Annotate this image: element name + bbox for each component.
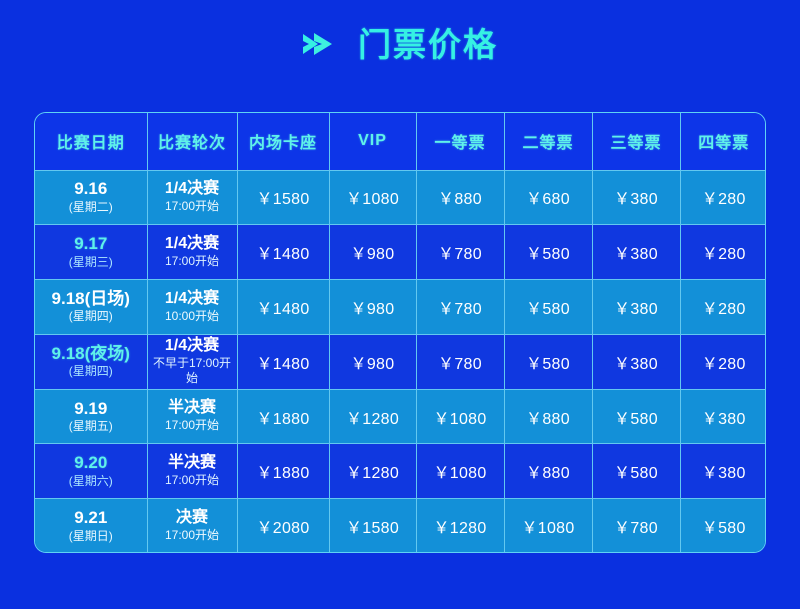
cell-price-tier2: ￥880 — [504, 389, 592, 444]
date-value: 9.18(夜场) — [35, 344, 147, 364]
cell-date: 9.18(日场) (星期四) — [35, 280, 147, 335]
round-value: 半决赛 — [148, 454, 237, 472]
cell-price-tier4: ￥280 — [680, 280, 766, 335]
cell-price-vip: ￥980 — [329, 225, 416, 280]
price-value: ￥1280 — [346, 465, 399, 482]
price-value: ￥780 — [438, 301, 482, 318]
cell-round: 1/4决赛 10:00开始 — [147, 280, 237, 335]
cell-price-vip: ￥1280 — [329, 444, 416, 499]
start-time-value: 17:00开始 — [148, 418, 237, 434]
cell-date: 9.18(夜场) (星期四) — [35, 334, 147, 389]
table-row: 9.16 (星期二) 1/4决赛 17:00开始 ￥1580 ￥1080 ￥88… — [35, 170, 766, 225]
date-value: 9.16 — [35, 179, 147, 199]
price-value: ￥380 — [614, 246, 658, 263]
weekday-value: (星期四) — [35, 309, 147, 325]
cell-price-tier1: ￥780 — [416, 225, 504, 280]
weekday-value: (星期二) — [35, 200, 147, 216]
price-value: ￥380 — [702, 465, 746, 482]
start-time-value: 17:00开始 — [148, 528, 237, 544]
page-title: 门票价格 — [358, 28, 498, 61]
weekday-value: (星期五) — [35, 419, 147, 435]
table-row: 9.19 (星期五) 半决赛 17:00开始 ￥1880 ￥1280 ￥1080… — [35, 389, 766, 444]
column-header-date: 比赛日期 — [35, 113, 147, 170]
cell-date: 9.17 (星期三) — [35, 225, 147, 280]
date-value: 9.17 — [35, 234, 147, 254]
ticket-price-table-container: 比赛日期 比赛轮次 内场卡座 VIP 一等票 二等票 三等票 四等票 9.16 … — [34, 112, 766, 553]
cell-price-vip: ￥980 — [329, 280, 416, 335]
round-value: 半决赛 — [148, 399, 237, 417]
date-value: 9.20 — [35, 453, 147, 473]
cell-price-tier4: ￥280 — [680, 170, 766, 225]
cell-round: 半决赛 17:00开始 — [147, 444, 237, 499]
cell-price-infield-seat: ￥2080 — [237, 499, 329, 553]
table-row: 9.18(日场) (星期四) 1/4决赛 10:00开始 ￥1480 ￥980 … — [35, 280, 766, 335]
cell-round: 半决赛 17:00开始 — [147, 389, 237, 444]
price-value: ￥1080 — [433, 411, 486, 428]
price-value: ￥880 — [526, 411, 570, 428]
price-value: ￥1080 — [521, 520, 574, 537]
cell-date: 9.19 (星期五) — [35, 389, 147, 444]
table-row: 9.21 (星期日) 决赛 17:00开始 ￥2080 ￥1580 ￥1280 … — [35, 499, 766, 553]
price-value: ￥1480 — [256, 246, 309, 263]
cell-price-tier2: ￥1080 — [504, 499, 592, 553]
price-value: ￥1480 — [256, 301, 309, 318]
column-header-tier2: 二等票 — [504, 113, 592, 170]
price-value: ￥680 — [526, 191, 570, 208]
column-header-tier4: 四等票 — [680, 113, 766, 170]
cell-date: 9.21 (星期日) — [35, 499, 147, 553]
price-value: ￥280 — [702, 246, 746, 263]
price-value: ￥580 — [614, 411, 658, 428]
cell-date: 9.20 (星期六) — [35, 444, 147, 499]
date-value: 9.21 — [35, 508, 147, 528]
cell-round: 决赛 17:00开始 — [147, 499, 237, 553]
table-row: 9.17 (星期三) 1/4决赛 17:00开始 ￥1480 ￥980 ￥780… — [35, 225, 766, 280]
cell-price-tier1: ￥1080 — [416, 444, 504, 499]
price-value: ￥1580 — [346, 520, 399, 537]
column-header-tier3: 三等票 — [592, 113, 680, 170]
table-header-row: 比赛日期 比赛轮次 内场卡座 VIP 一等票 二等票 三等票 四等票 — [35, 113, 766, 170]
start-time-value: 17:00开始 — [148, 473, 237, 489]
table-row: 9.20 (星期六) 半决赛 17:00开始 ￥1880 ￥1280 ￥1080… — [35, 444, 766, 499]
cell-price-tier3: ￥380 — [592, 280, 680, 335]
cell-price-tier2: ￥880 — [504, 444, 592, 499]
date-value: 9.18(日场) — [35, 289, 147, 309]
price-value: ￥780 — [438, 356, 482, 373]
price-value: ￥1880 — [256, 411, 309, 428]
cell-price-infield-seat: ￥1580 — [237, 170, 329, 225]
price-value: ￥580 — [526, 356, 570, 373]
cell-price-tier4: ￥380 — [680, 389, 766, 444]
cell-price-tier2: ￥580 — [504, 280, 592, 335]
weekday-value: (星期日) — [35, 529, 147, 545]
start-time-value: 不早于17:00开始 — [148, 356, 237, 387]
price-value: ￥380 — [614, 301, 658, 318]
price-value: ￥280 — [702, 301, 746, 318]
price-value: ￥880 — [526, 465, 570, 482]
price-value: ￥280 — [702, 356, 746, 373]
price-value: ￥1580 — [256, 191, 309, 208]
cell-price-tier2: ￥580 — [504, 334, 592, 389]
cell-price-infield-seat: ￥1480 — [237, 280, 329, 335]
cell-price-tier3: ￥580 — [592, 444, 680, 499]
price-value: ￥580 — [614, 465, 658, 482]
cell-price-tier1: ￥880 — [416, 170, 504, 225]
cell-price-tier4: ￥280 — [680, 334, 766, 389]
cell-price-vip: ￥1580 — [329, 499, 416, 553]
price-value: ￥1480 — [256, 356, 309, 373]
weekday-value: (星期三) — [35, 255, 147, 271]
table-row: 9.18(夜场) (星期四) 1/4决赛 不早于17:00开始 ￥1480 ￥9… — [35, 334, 766, 389]
price-value: ￥1280 — [433, 520, 486, 537]
cell-price-tier1: ￥1280 — [416, 499, 504, 553]
price-value: ￥980 — [351, 301, 395, 318]
date-value: 9.19 — [35, 399, 147, 419]
cell-price-tier3: ￥380 — [592, 334, 680, 389]
cell-price-vip: ￥980 — [329, 334, 416, 389]
start-time-value: 10:00开始 — [148, 309, 237, 325]
price-value: ￥1080 — [346, 191, 399, 208]
price-value: ￥780 — [614, 520, 658, 537]
round-value: 1/4决赛 — [148, 290, 237, 308]
cell-price-tier3: ￥380 — [592, 170, 680, 225]
cell-price-tier1: ￥1080 — [416, 389, 504, 444]
cell-date: 9.16 (星期二) — [35, 170, 147, 225]
cell-price-vip: ￥1280 — [329, 389, 416, 444]
cell-price-tier3: ￥580 — [592, 389, 680, 444]
round-value: 1/4决赛 — [148, 337, 237, 355]
cell-price-vip: ￥1080 — [329, 170, 416, 225]
price-value: ￥380 — [702, 411, 746, 428]
column-header-vip: VIP — [329, 113, 416, 170]
price-value: ￥780 — [438, 246, 482, 263]
price-value: ￥1080 — [433, 465, 486, 482]
cell-price-tier2: ￥680 — [504, 170, 592, 225]
round-value: 1/4决赛 — [148, 235, 237, 253]
price-value: ￥880 — [438, 191, 482, 208]
cell-price-infield-seat: ￥1480 — [237, 225, 329, 280]
price-value: ￥380 — [614, 191, 658, 208]
cell-price-tier3: ￥780 — [592, 499, 680, 553]
cell-price-tier1: ￥780 — [416, 280, 504, 335]
price-value: ￥580 — [702, 520, 746, 537]
column-header-infield-seat: 内场卡座 — [237, 113, 329, 170]
price-value: ￥980 — [351, 356, 395, 373]
weekday-value: (星期六) — [35, 474, 147, 490]
cell-round: 1/4决赛 17:00开始 — [147, 170, 237, 225]
cell-price-infield-seat: ￥1880 — [237, 444, 329, 499]
price-value: ￥580 — [526, 246, 570, 263]
round-value: 决赛 — [148, 509, 237, 527]
round-value: 1/4决赛 — [148, 180, 237, 198]
column-header-round: 比赛轮次 — [147, 113, 237, 170]
cell-round: 1/4决赛 17:00开始 — [147, 225, 237, 280]
price-value: ￥380 — [614, 356, 658, 373]
cell-price-infield-seat: ￥1880 — [237, 389, 329, 444]
cell-price-tier2: ￥580 — [504, 225, 592, 280]
column-header-tier1: 一等票 — [416, 113, 504, 170]
price-value: ￥580 — [526, 301, 570, 318]
price-value: ￥1880 — [256, 465, 309, 482]
chevron-right-icon — [302, 30, 344, 58]
cell-price-tier4: ￥280 — [680, 225, 766, 280]
start-time-value: 17:00开始 — [148, 254, 237, 270]
page-title-bar: 门票价格 — [0, 14, 800, 74]
cell-round: 1/4决赛 不早于17:00开始 — [147, 334, 237, 389]
start-time-value: 17:00开始 — [148, 199, 237, 215]
cell-price-tier4: ￥380 — [680, 444, 766, 499]
price-value: ￥980 — [351, 246, 395, 263]
weekday-value: (星期四) — [35, 364, 147, 380]
cell-price-tier3: ￥380 — [592, 225, 680, 280]
ticket-price-table: 比赛日期 比赛轮次 内场卡座 VIP 一等票 二等票 三等票 四等票 9.16 … — [35, 113, 766, 553]
cell-price-tier1: ￥780 — [416, 334, 504, 389]
price-value: ￥280 — [702, 191, 746, 208]
price-value: ￥1280 — [346, 411, 399, 428]
cell-price-tier4: ￥580 — [680, 499, 766, 553]
price-value: ￥2080 — [256, 520, 309, 537]
cell-price-infield-seat: ￥1480 — [237, 334, 329, 389]
